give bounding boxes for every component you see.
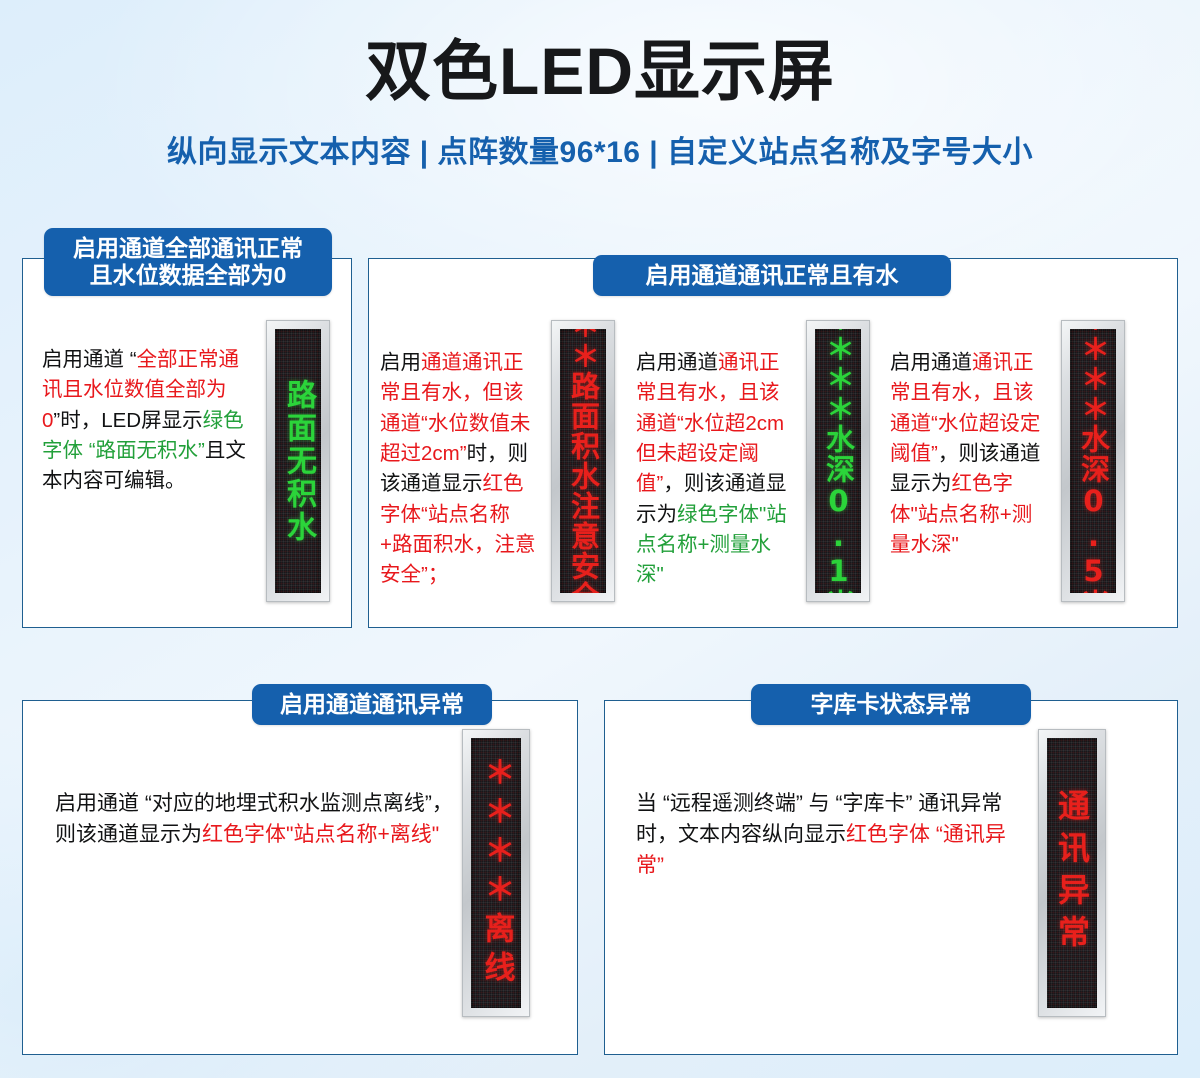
led-sign-road-no-water: 路面无积水 [266,320,330,602]
panel-description-water-below-2cm: 启用通道通讯正常且有水，但该通道“水位数值未超过2cm”时，则该通道显示红色字体… [380,348,540,591]
led-matrix-panel: 通讯异常 [1047,738,1097,1008]
panel-header-channel-comm-error: 启用通道通讯异常 [252,684,492,725]
panel-description-font-card-error: 当 “远程遥测终端” 与 “字库卡” 通讯异常时，文本内容纵向显示红色字体 “通… [636,788,1026,881]
page-subtitle: 纵向显示文本内容 | 点阵数量96*16 | 自定义站点名称及字号大小 [0,107,1200,171]
led-sign-depth-0-5m: ＊＊＊＊水深0.5米 [1061,320,1125,602]
led-text: ＊＊＊＊水深0.1米 [824,329,853,593]
page-title: 双色LED显示屏 [0,0,1200,107]
panel-description-water-above-2cm-below-threshold: 启用通道通讯正常且有水，且该通道“水位超2cm但未超设定阈值”，则该通道显示为绿… [636,348,794,591]
description-segment: 启用 [380,351,421,374]
led-matrix-panel: ＊＊＊＊水深0.5米 [1070,329,1116,593]
description-segment: 启用通道 [636,351,718,374]
led-matrix-panel: ＊＊路面积水注意安全 [560,329,606,593]
led-text: ＊＊路面积水注意安全 [569,329,598,593]
description-segment: 红色字体"站点名称+离线" [202,823,439,846]
panel-header-font-card-error: 字库卡状态异常 [751,684,1031,725]
led-sign-comm-abnormal: 通讯异常 [1038,729,1106,1017]
description-segment: ”时，LED屏显示 [53,409,202,432]
led-text: ＊＊＊＊水深0.5米 [1079,329,1108,593]
hero-section: 双色LED显示屏 纵向显示文本内容 | 点阵数量96*16 | 自定义站点名称及… [0,0,1200,171]
led-matrix-panel: 路面无积水 [275,329,321,593]
led-matrix-panel: ＊＊＊＊离线 [471,738,521,1008]
panel-header-all-normal-zero: 启用通道全部通讯正常 且水位数据全部为0 [44,228,332,296]
led-sign-road-waterlogged-warning: ＊＊路面积水注意安全 [551,320,615,602]
led-sign-offline: ＊＊＊＊离线 [462,729,530,1017]
led-text: ＊＊＊＊离线 [481,756,512,990]
description-segment: 启用通道 “ [42,348,137,371]
led-text: 通讯异常 [1056,789,1088,957]
led-matrix-panel: ＊＊＊＊水深0.1米 [815,329,861,593]
panel-description-all-normal-zero: 启用通道 “全部正常通讯且水位数值全部为0”时，LED屏显示绿色字体 “路面无积… [42,345,254,497]
led-text: 路面无积水 [283,379,313,544]
panel-description-water-above-threshold: 启用通道通讯正常且有水，且该通道“水位超设定阈值”，则该通道显示为红色字体"站点… [890,348,1050,560]
led-sign-depth-0-1m: ＊＊＊＊水深0.1米 [806,320,870,602]
description-segment: 启用通道 [890,351,972,374]
panel-description-channel-comm-error: 启用通道 “对应的地埋式积水监测点离线”，则该通道显示为红色字体"站点名称+离线… [55,788,455,850]
panel-header-normal-with-water: 启用通道通讯正常且有水 [593,255,951,296]
